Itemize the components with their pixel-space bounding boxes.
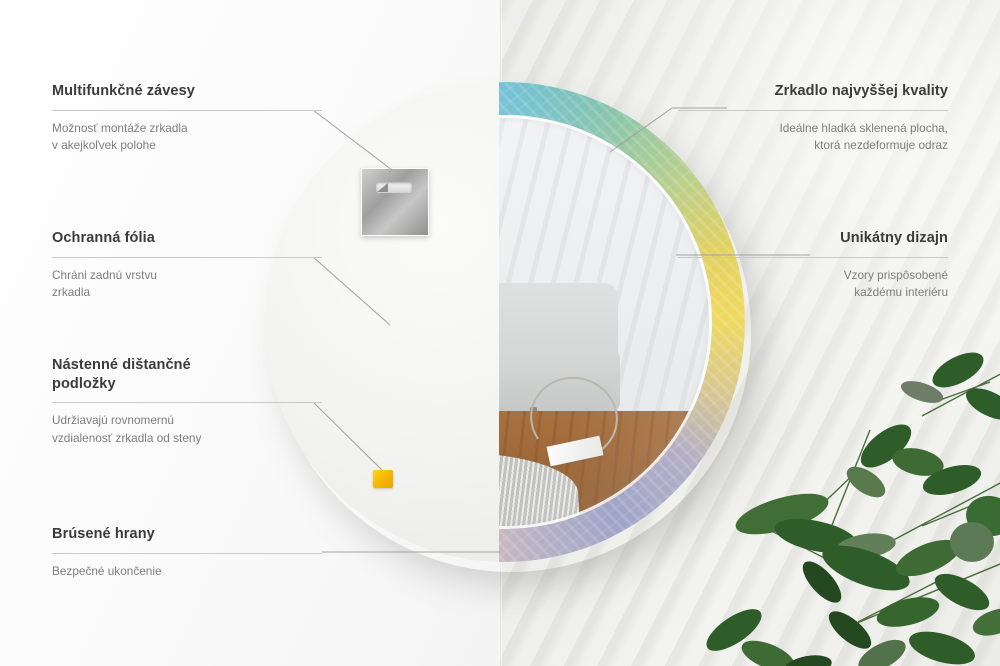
plant-decoration (690, 330, 1000, 666)
desc-line-1: Udržiavajú rovnomernú (52, 413, 174, 427)
title-line-2: podložky (52, 376, 116, 392)
callout-rule (52, 257, 322, 258)
product-mirror (265, 82, 745, 562)
callout-title: Multifunkčné závesy (52, 82, 322, 101)
callout-title: Ochranná fólia (52, 229, 322, 248)
desc-line-1: Vzory prispôsobené (844, 268, 948, 282)
desc-line-1: Chráni zadnú vrstvu (52, 268, 157, 282)
callout-brusene-hrany: Brúsené hrany Bezpečné ukončenie (52, 525, 322, 580)
bracket-keyhole-slot (376, 182, 412, 193)
callout-multifunkcne-zavesy: Multifunkčné závesy Možnosť montáže zrka… (52, 82, 322, 155)
callout-title: Zrkadlo najvyššej kvality (678, 82, 948, 101)
callout-title: Nástenné dištančné podložky (52, 356, 322, 393)
callout-description: Chráni zadnú vrstvu zrkadla (52, 267, 322, 303)
callout-description: Vzory prispôsobené každému interiéru (678, 267, 948, 303)
wall-spacer-pad-icon (373, 470, 393, 488)
desc-line-1: Ideálne hladká sklenená plocha, (779, 121, 948, 135)
callout-zrkadlo-najvyssej-kvality: Zrkadlo najvyššej kvality Ideálne hladká… (678, 82, 948, 155)
desc-line-2: vzdialenosť zrkadla od steny (52, 431, 201, 445)
desc-line-2: každému interiéru (854, 285, 948, 299)
desc-line-1: Bezpečné ukončenie (52, 564, 162, 578)
desc-line-2: v akejkoľvek polohe (52, 138, 156, 152)
callout-unikatny-dizajn: Unikátny dizajn Vzory prispôsobené každé… (678, 229, 948, 302)
callout-description: Možnosť montáže zrkadla v akejkoľvek pol… (52, 120, 322, 156)
callout-ochranna-folia: Ochranná fólia Chráni zadnú vrstvu zrkad… (52, 229, 322, 302)
callout-rule (52, 110, 322, 111)
callout-nastenne-distancne-podlozky: Nástenné dištančné podložky Udržiavajú r… (52, 356, 322, 448)
callout-description: Bezpečné ukončenie (52, 563, 322, 581)
callout-description: Udržiavajú rovnomernú vzdialenosť zrkadl… (52, 412, 322, 448)
desc-line-2: zrkadla (52, 285, 90, 299)
callout-title: Unikátny dizajn (678, 229, 948, 248)
callout-description: Ideálne hladká sklenená plocha, ktorá ne… (678, 120, 948, 156)
hanging-bracket-icon (361, 168, 429, 236)
callout-rule (678, 257, 948, 258)
desc-line-1: Možnosť montáže zrkadla (52, 121, 188, 135)
desc-line-2: ktorá nezdeformuje odraz (814, 138, 948, 152)
callout-title: Brúsené hrany (52, 525, 322, 544)
infographic-canvas: Multifunkčné závesy Možnosť montáže zrka… (0, 0, 1000, 666)
callout-rule (678, 110, 948, 111)
title-line-1: Nástenné dištančné (52, 357, 191, 373)
callout-rule (52, 553, 322, 554)
callout-rule (52, 402, 322, 403)
